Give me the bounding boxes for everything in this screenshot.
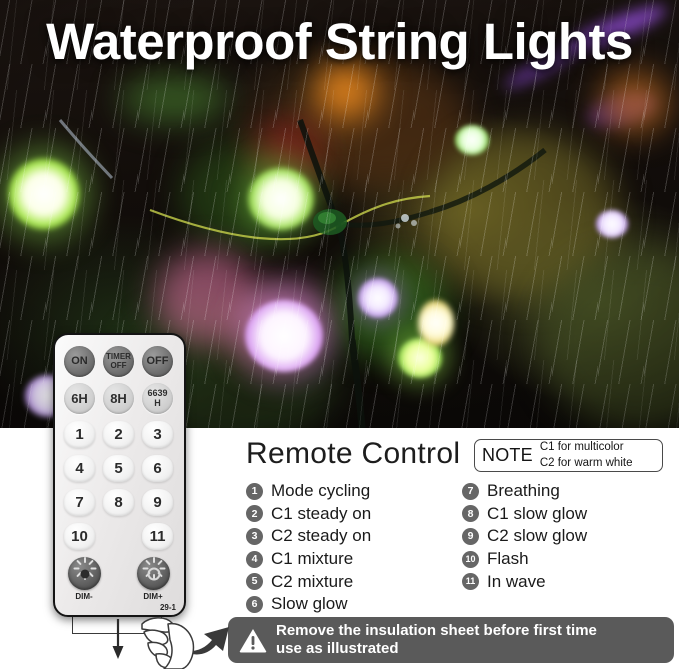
mode-number-badge: 10: [462, 551, 479, 568]
hand-illustration: [138, 612, 198, 669]
remote-button-4[interactable]: 4: [64, 455, 95, 482]
remote-control-heading: Remote Control: [246, 437, 460, 471]
remote-button-timer-off[interactable]: TIMEROFF: [103, 346, 134, 377]
mode-number-badge: 8: [462, 505, 479, 522]
remote-button-10[interactable]: 10: [64, 523, 95, 550]
list-item: 5 C2 mixture: [246, 570, 461, 593]
mode-number-badge: 1: [246, 483, 263, 500]
remote-button-3-label: 3: [153, 427, 161, 442]
warning-text: Remove the insulation sheet before first…: [276, 622, 597, 659]
mode-list-left: 1 Mode cycling 2 C1 steady on 3 C2 stead…: [246, 480, 461, 616]
remote-button-5[interactable]: 5: [103, 455, 134, 482]
remote-dim-up-label: DIM+: [133, 592, 173, 601]
mode-number-badge: 2: [246, 505, 263, 522]
mode-label: Mode cycling: [271, 481, 370, 501]
warning-line-1: Remove the insulation sheet before first…: [276, 622, 597, 640]
mode-number-badge: 6: [246, 596, 263, 613]
remote-button-6639h-label: 6639H: [147, 389, 167, 407]
remote-model-number: 29-1: [160, 603, 176, 612]
list-item: 7 Breathing: [462, 480, 677, 503]
remote-button-on[interactable]: ON: [64, 346, 95, 377]
list-item: 3 C2 steady on: [246, 525, 461, 548]
remote-button-6639h[interactable]: 6639H: [142, 383, 173, 414]
remote-control-device: ON TIMEROFF OFF 6H 8H 6639H 1 2 3 4 5: [53, 333, 186, 617]
note-label: NOTE: [482, 445, 533, 466]
remote-button-9[interactable]: 9: [142, 489, 173, 516]
remote-button-timer-off-label: TIMEROFF: [106, 353, 131, 369]
mode-label: C2 slow glow: [487, 526, 587, 546]
remote-button-1[interactable]: 1: [64, 421, 95, 448]
remote-button-10-label: 10: [71, 529, 88, 544]
note-line-1: C1 for multicolor: [540, 440, 633, 455]
remote-button-8h[interactable]: 8H: [103, 383, 134, 414]
mode-number-badge: 5: [246, 573, 263, 590]
mode-label: Breathing: [487, 481, 560, 501]
remote-button-9-label: 9: [153, 495, 161, 510]
note-box: NOTE C1 for multicolor C2 for warm white: [474, 439, 663, 472]
remote-dim-up-dial[interactable]: [137, 557, 170, 590]
remote-button-3[interactable]: 3: [142, 421, 173, 448]
mode-number-badge: 11: [462, 573, 479, 590]
remote-dim-down-label: DIM-: [64, 592, 104, 601]
down-arrow-icon: [111, 617, 125, 661]
list-item: 6 Slow glow: [246, 593, 461, 616]
remote-button-11-label: 11: [150, 529, 166, 544]
list-item: 10 Flash: [462, 548, 677, 571]
list-item: 2 C1 steady on: [246, 503, 461, 526]
list-item: 1 Mode cycling: [246, 480, 461, 503]
remote-dim-down-dial[interactable]: [68, 557, 101, 590]
mode-number-badge: 9: [462, 528, 479, 545]
list-item: 11 In wave: [462, 570, 677, 593]
remote-button-7[interactable]: 7: [64, 489, 95, 516]
mode-label: C2 steady on: [271, 526, 371, 546]
list-item: 8 C1 slow glow: [462, 503, 677, 526]
mode-label: C1 mixture: [271, 549, 353, 569]
list-item: 4 C1 mixture: [246, 548, 461, 571]
mode-label: Slow glow: [271, 594, 348, 614]
mode-label: In wave: [487, 572, 546, 592]
mode-number-badge: 4: [246, 551, 263, 568]
warning-triangle-icon: [239, 627, 267, 653]
mode-label: C2 mixture: [271, 572, 353, 592]
mode-number-badge: 3: [246, 528, 263, 545]
mode-list-right: 7 Breathing 8 C1 slow glow 9 C2 slow glo…: [462, 480, 677, 593]
remote-button-2[interactable]: 2: [103, 421, 134, 448]
product-infographic: Waterproof String Lights ON TIMEROFF OFF: [0, 0, 679, 669]
remote-button-8-label: 8: [114, 495, 122, 510]
remote-button-8h-label: 8H: [110, 392, 127, 405]
remote-button-5-label: 5: [114, 461, 122, 476]
remote-button-1-label: 1: [75, 427, 83, 442]
remote-button-11[interactable]: 11: [142, 523, 173, 550]
list-item: 9 C2 slow glow: [462, 525, 677, 548]
remote-button-2-label: 2: [114, 427, 122, 442]
remote-button-7-label: 7: [75, 495, 83, 510]
warning-line-2: use as illustrated: [276, 640, 597, 658]
mode-label: C1 slow glow: [487, 504, 587, 524]
remote-button-off[interactable]: OFF: [142, 346, 173, 377]
page-title: Waterproof String Lights: [0, 16, 679, 67]
note-line-2: C2 for warm white: [540, 456, 633, 471]
mode-label: Flash: [487, 549, 529, 569]
mode-label: C1 steady on: [271, 504, 371, 524]
remote-button-6h[interactable]: 6H: [64, 383, 95, 414]
remote-button-6-label: 6: [153, 461, 161, 476]
warning-banner: Remove the insulation sheet before first…: [228, 617, 674, 663]
note-lines: C1 for multicolor C2 for warm white: [540, 440, 633, 471]
remote-button-8[interactable]: 8: [103, 489, 134, 516]
remote-button-on-label: ON: [71, 356, 88, 367]
remote-button-off-label: OFF: [147, 356, 169, 367]
remote-button-4-label: 4: [75, 461, 83, 476]
remote-button-6[interactable]: 6: [142, 455, 173, 482]
remote-button-6h-label: 6H: [71, 392, 88, 405]
mode-number-badge: 7: [462, 483, 479, 500]
